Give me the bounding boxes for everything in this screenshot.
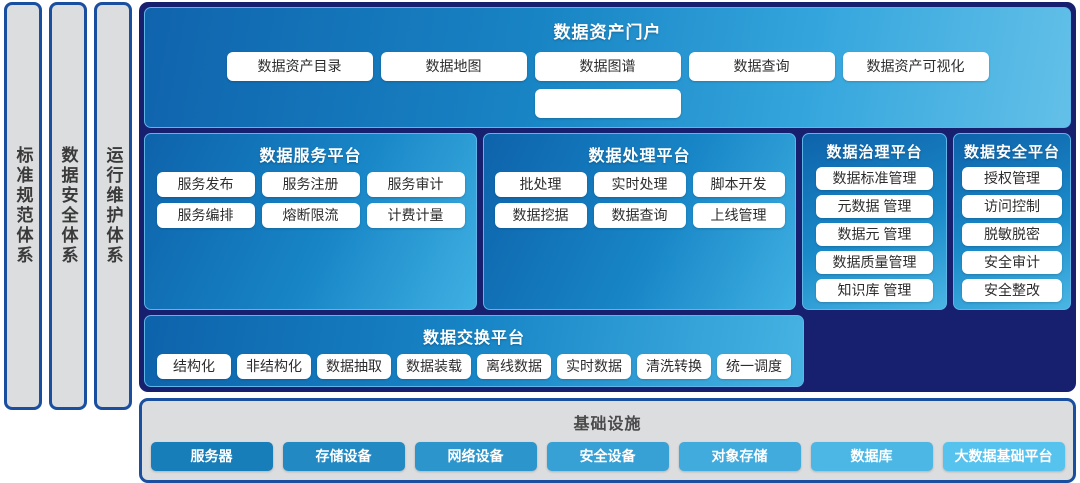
platform-row: 数据服务平台 服务发布 服务注册 服务审计 服务编排 熔断限流 计费计量 数据处… <box>144 133 1071 310</box>
governance-item-list: 数据标准管理 元数据 管理 数据元 管理 数据质量管理 知识库 管理 <box>809 167 940 302</box>
exchange-item-data-loading[interactable]: 数据装载 <box>397 354 471 379</box>
service-item-billing-metering[interactable]: 计费计量 <box>367 203 465 228</box>
panel-title: 数据处理平台 <box>588 142 690 166</box>
infrastructure-item-database[interactable]: 数据库 <box>811 442 933 471</box>
sidebar-item-data-security-system[interactable]: 数据安全体系 <box>49 2 87 410</box>
panel-data-processing-platform: 数据处理平台 批处理 实时处理 脚本开发 数据挖据 数据查询 上线管理 <box>483 133 796 310</box>
service-item-service-audit[interactable]: 服务审计 <box>367 172 465 197</box>
security-item-access-control[interactable]: 访问控制 <box>962 195 1062 218</box>
exchange-item-unified-scheduling[interactable]: 统一调度 <box>717 354 791 379</box>
governance-item-data-quality-management[interactable]: 数据质量管理 <box>816 251 933 274</box>
portal-item-data-asset-catalog[interactable]: 数据资产目录 <box>227 52 373 81</box>
service-item-service-publish[interactable]: 服务发布 <box>157 172 255 197</box>
exchange-item-cleansing-transform[interactable]: 清洗转换 <box>637 354 711 379</box>
sidebar-item-label: 运行维护体系 <box>105 146 122 266</box>
panel-data-service-platform: 数据服务平台 服务发布 服务注册 服务审计 服务编排 熔断限流 计费计量 <box>144 133 477 310</box>
panel-title: 基础设施 <box>573 410 641 434</box>
sidebar-pillars: 标准规范体系 数据安全体系 运行维护体系 <box>0 0 132 412</box>
infrastructure-item-storage-device[interactable]: 存储设备 <box>283 442 405 471</box>
governance-item-data-standard-management[interactable]: 数据标准管理 <box>816 167 933 190</box>
exchange-item-structured[interactable]: 结构化 <box>157 354 231 379</box>
processing-item-data-mining[interactable]: 数据挖据 <box>495 203 587 228</box>
panel-data-exchange-platform: 数据交换平台 结构化 非结构化 数据抽取 数据装载 离线数据 实时数据 清洗转换… <box>144 315 804 387</box>
exchange-row: 数据交换平台 结构化 非结构化 数据抽取 数据装载 离线数据 实时数据 清洗转换… <box>144 315 1071 387</box>
processing-item-script-development[interactable]: 脚本开发 <box>693 172 785 197</box>
panel-data-asset-portal: 数据资产门户 数据资产目录 数据地图 数据图谱 数据查询 数据资产可视化 <box>144 7 1071 128</box>
portal-item-data-graph[interactable]: 数据图谱 <box>535 52 681 81</box>
exchange-item-realtime-data[interactable]: 实时数据 <box>557 354 631 379</box>
portal-item-list: 数据资产目录 数据地图 数据图谱 数据查询 数据资产可视化 <box>145 52 1070 120</box>
exchange-item-data-extraction[interactable]: 数据抽取 <box>317 354 391 379</box>
panel-data-security-platform: 数据安全平台 授权管理 访问控制 脱敏脱密 安全审计 安全整改 <box>953 133 1071 310</box>
portal-item-data-query[interactable]: 数据查询 <box>689 52 835 81</box>
processing-item-list: 批处理 实时处理 脚本开发 数据挖据 数据查询 上线管理 <box>490 172 789 228</box>
sidebar-item-label: 数据安全体系 <box>60 146 77 266</box>
panel-title: 数据安全平台 <box>964 141 1060 162</box>
governance-item-knowledge-base-management[interactable]: 知识库 管理 <box>816 279 933 302</box>
infrastructure-item-server[interactable]: 服务器 <box>151 442 273 471</box>
security-item-list: 授权管理 访问控制 脱敏脱密 安全审计 安全整改 <box>960 167 1064 302</box>
processing-item-batch-processing[interactable]: 批处理 <box>495 172 587 197</box>
infrastructure-item-big-data-platform[interactable]: 大数据基础平台 <box>943 442 1065 471</box>
infrastructure-item-security-device[interactable]: 安全设备 <box>547 442 669 471</box>
processing-item-realtime-processing[interactable]: 实时处理 <box>594 172 686 197</box>
panel-title: 数据资产门户 <box>554 18 662 43</box>
service-item-list: 服务发布 服务注册 服务审计 服务编排 熔断限流 计费计量 <box>151 172 470 228</box>
portal-item-data-map[interactable]: 数据地图 <box>381 52 527 81</box>
service-item-circuit-breaker[interactable]: 熔断限流 <box>262 203 360 228</box>
main-column: 数据资产门户 数据资产目录 数据地图 数据图谱 数据查询 数据资产可视化 数据服… <box>132 0 1080 412</box>
service-item-service-register[interactable]: 服务注册 <box>262 172 360 197</box>
processing-item-release-management[interactable]: 上线管理 <box>693 203 785 228</box>
sidebar-item-operations-maintenance-system[interactable]: 运行维护体系 <box>94 2 132 410</box>
security-item-security-rectification[interactable]: 安全整改 <box>962 279 1062 302</box>
infrastructure-item-network-device[interactable]: 网络设备 <box>415 442 537 471</box>
governance-item-data-element-management[interactable]: 数据元 管理 <box>816 223 933 246</box>
infrastructure-item-object-storage[interactable]: 对象存储 <box>679 442 801 471</box>
security-item-authorization-management[interactable]: 授权管理 <box>962 167 1062 190</box>
panel-title: 数据治理平台 <box>826 141 922 162</box>
exchange-item-unstructured[interactable]: 非结构化 <box>237 354 311 379</box>
security-item-desensitization[interactable]: 脱敏脱密 <box>962 223 1062 246</box>
processing-item-data-query[interactable]: 数据查询 <box>594 203 686 228</box>
sidebar-item-label: 标准规范体系 <box>15 146 32 266</box>
infrastructure-item-list: 服务器 存储设备 网络设备 安全设备 对象存储 数据库 大数据基础平台 <box>150 442 1065 471</box>
portal-item-empty[interactable] <box>535 89 681 118</box>
portal-item-data-asset-visualization[interactable]: 数据资产可视化 <box>843 52 989 81</box>
panel-title: 数据服务平台 <box>259 142 361 166</box>
exchange-item-list: 结构化 非结构化 数据抽取 数据装载 离线数据 实时数据 清洗转换 统一调度 <box>151 354 797 379</box>
service-item-service-orchestration[interactable]: 服务编排 <box>157 203 255 228</box>
exchange-item-offline-data[interactable]: 离线数据 <box>477 354 551 379</box>
architecture-diagram: 标准规范体系 数据安全体系 运行维护体系 数据资产门户 数据资产目录 数据地图 … <box>0 0 1080 412</box>
security-item-security-audit[interactable]: 安全审计 <box>962 251 1062 274</box>
panel-title: 数据交换平台 <box>423 324 525 348</box>
governance-item-metadata-management[interactable]: 元数据 管理 <box>816 195 933 218</box>
panel-infrastructure: 基础设施 服务器 存储设备 网络设备 安全设备 对象存储 数据库 大数据基础平台 <box>139 398 1076 483</box>
platform-shell: 数据资产门户 数据资产目录 数据地图 数据图谱 数据查询 数据资产可视化 数据服… <box>139 2 1076 392</box>
sidebar-item-standards-system[interactable]: 标准规范体系 <box>4 2 42 410</box>
panel-data-governance-platform: 数据治理平台 数据标准管理 元数据 管理 数据元 管理 数据质量管理 知识库 管… <box>802 133 947 310</box>
